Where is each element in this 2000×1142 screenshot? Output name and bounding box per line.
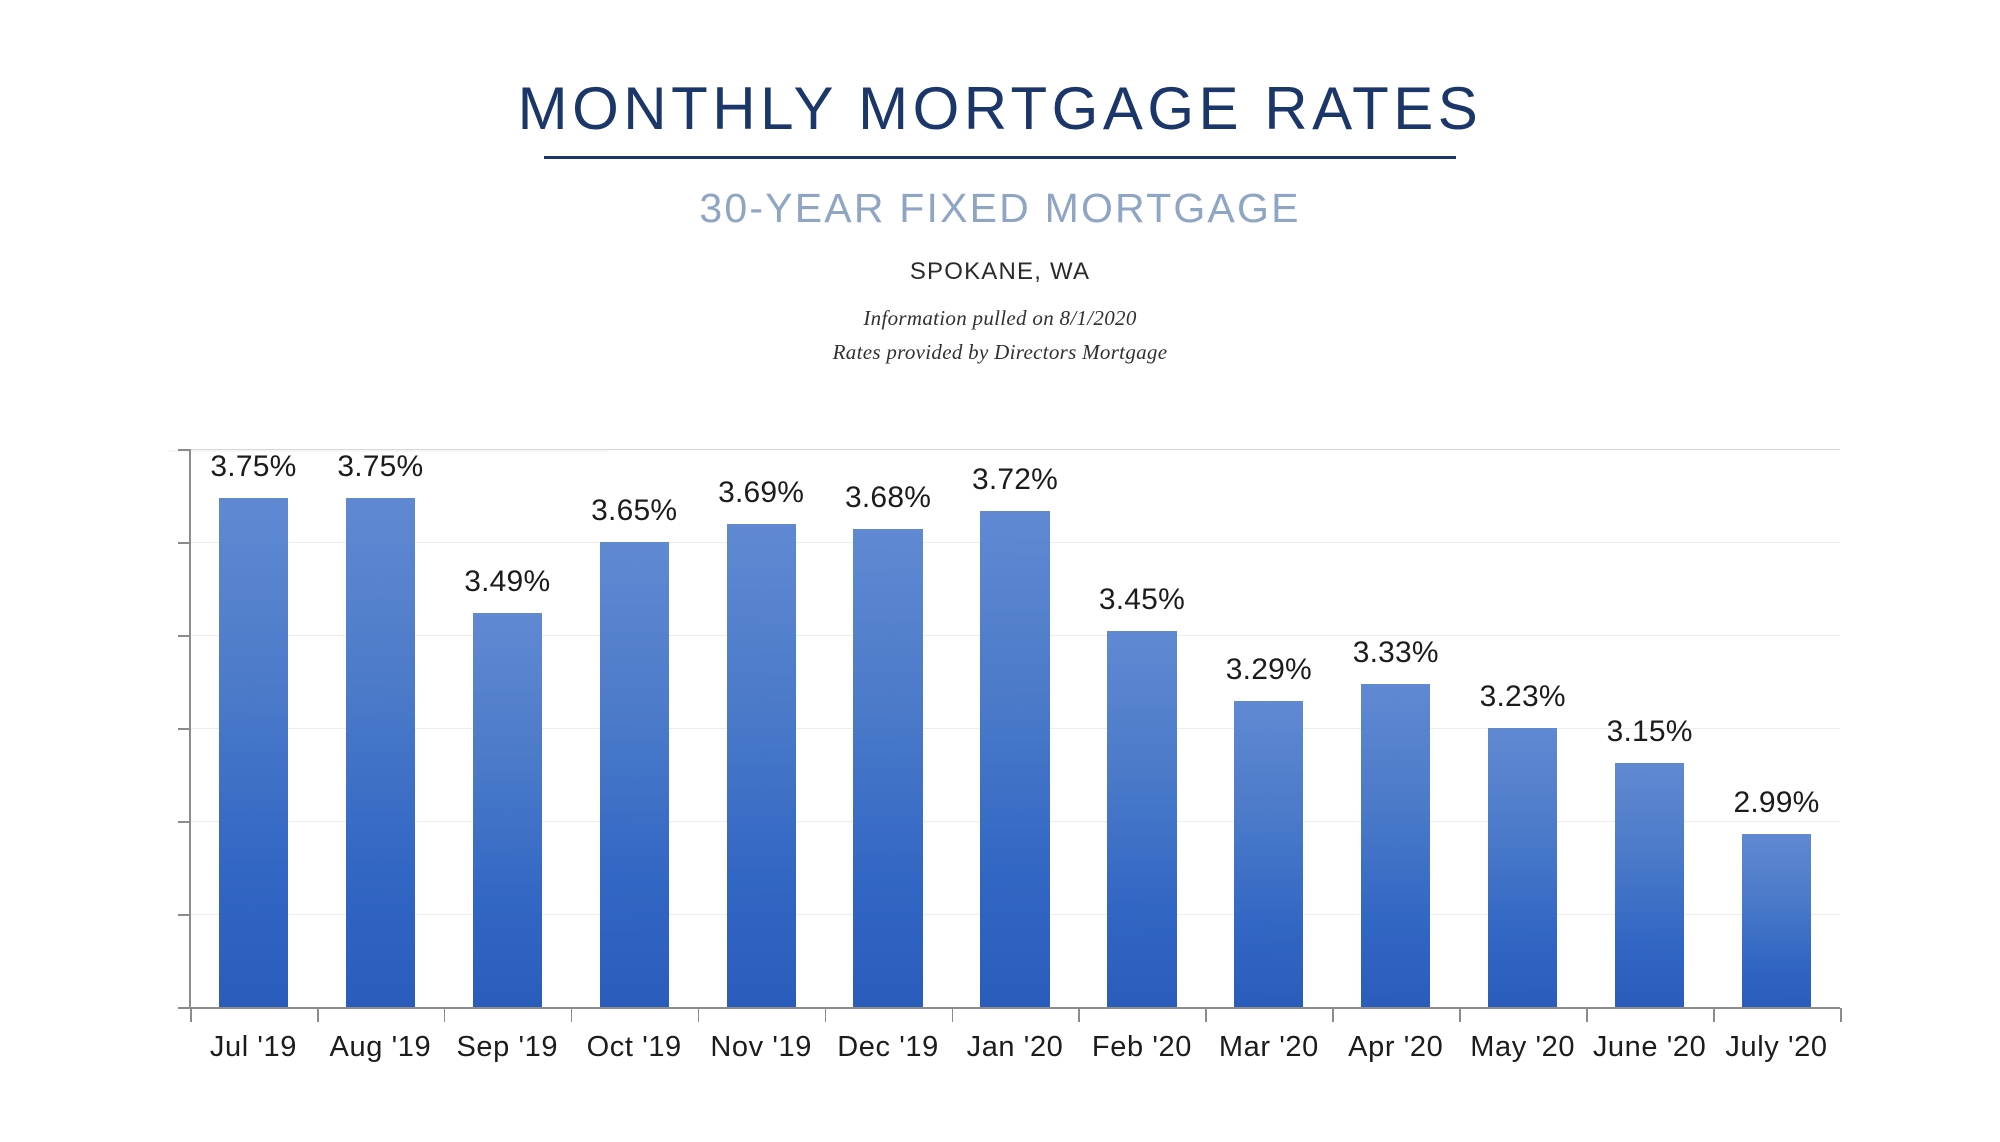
x-axis-tick: [571, 1008, 573, 1022]
bar[interactable]: [853, 529, 922, 1007]
x-axis-tick: [952, 1008, 954, 1022]
bar-slot: [980, 449, 1049, 1007]
y-axis-tick: [178, 449, 190, 451]
category-label: May '20: [1433, 1031, 1613, 1064]
bar-value-label: 3.49%: [427, 565, 587, 599]
chart-plot-area: [190, 449, 1840, 1007]
bar[interactable]: [727, 524, 796, 1007]
bar[interactable]: [1488, 728, 1557, 1007]
category-label: Jul '19: [163, 1031, 343, 1064]
bar-slot: [1742, 449, 1811, 1007]
bar[interactable]: [1361, 684, 1430, 1007]
y-axis-tick: [178, 542, 190, 544]
bar-slot: [473, 449, 542, 1007]
bar-value-label: 3.29%: [1189, 653, 1349, 687]
bar[interactable]: [1107, 631, 1176, 1007]
bar-slot: [1107, 449, 1176, 1007]
bar-value-label: 3.15%: [1570, 715, 1730, 749]
x-axis-tick: [1840, 1008, 1842, 1022]
gridline: [190, 1007, 1840, 1008]
page-title: MONTHLY MORTGAGE RATES: [0, 78, 2000, 140]
x-axis-tick: [1078, 1008, 1080, 1022]
category-label: Oct '19: [544, 1031, 724, 1064]
title-underline-rule: [544, 156, 1456, 159]
x-axis-tick: [317, 1008, 319, 1022]
gridline: [190, 821, 1840, 822]
bar-slot: [600, 449, 669, 1007]
plot-top-border: [190, 449, 1840, 450]
bar-value-label: 3.33%: [1316, 636, 1476, 670]
bar-value-label: 3.65%: [554, 494, 714, 528]
bar-slot: [1615, 449, 1684, 1007]
category-label: Feb '20: [1052, 1031, 1232, 1064]
bar-value-label: 3.72%: [935, 463, 1095, 497]
y-axis-tick: [178, 821, 190, 823]
category-label: Jan '20: [925, 1031, 1105, 1064]
bar-slot: [727, 449, 796, 1007]
bar-slot: [1488, 449, 1557, 1007]
x-axis-line: [189, 1007, 1840, 1009]
faint-line-artifact: [168, 450, 608, 452]
bar-series: [190, 449, 1840, 1007]
note-date-pulled: Information pulled on 8/1/2020: [0, 306, 2000, 331]
bar[interactable]: [1234, 701, 1303, 1007]
bar-slot: [346, 449, 415, 1007]
bar-value-label: 3.75%: [300, 450, 460, 484]
y-axis-tick: [178, 635, 190, 637]
bar-value-label: 3.68%: [808, 481, 968, 515]
bar[interactable]: [473, 613, 542, 1007]
bar[interactable]: [1742, 834, 1811, 1007]
bar-slot: [219, 449, 288, 1007]
x-axis-tick: [1332, 1008, 1334, 1022]
bar-value-label: 3.23%: [1443, 680, 1603, 714]
bar[interactable]: [980, 511, 1049, 1007]
x-axis-tick: [1586, 1008, 1588, 1022]
x-axis-tick: [190, 1008, 192, 1022]
y-axis-tick: [178, 728, 190, 730]
bar[interactable]: [600, 542, 669, 1007]
bar-value-label: 3.75%: [173, 450, 333, 484]
x-axis-tick: [698, 1008, 700, 1022]
category-label: Aug '19: [290, 1031, 470, 1064]
bar-slot: [1234, 449, 1303, 1007]
gridline: [190, 542, 1840, 543]
gridline: [190, 914, 1840, 915]
bar-value-label: 3.45%: [1062, 583, 1222, 617]
category-label: Nov '19: [671, 1031, 851, 1064]
y-axis-line: [189, 449, 191, 1009]
x-axis-tick: [1713, 1008, 1715, 1022]
y-axis-tick: [178, 1007, 190, 1009]
chart-header: MONTHLY MORTGAGE RATES 30-YEAR FIXED MOR…: [0, 0, 2000, 365]
category-label: Sep '19: [417, 1031, 597, 1064]
category-label: Apr '20: [1306, 1031, 1486, 1064]
bar[interactable]: [219, 498, 288, 1007]
category-label: June '20: [1560, 1031, 1740, 1064]
note-rate-source: Rates provided by Directors Mortgage: [0, 340, 2000, 365]
bar-value-label: 2.99%: [1697, 786, 1857, 820]
x-axis-tick: [444, 1008, 446, 1022]
location-label: SPOKANE, WA: [0, 258, 2000, 286]
gridline: [190, 635, 1840, 636]
category-label: Dec '19: [798, 1031, 978, 1064]
category-label: July '20: [1687, 1031, 1867, 1064]
y-axis-tick: [178, 914, 190, 916]
bar-slot: [1361, 449, 1430, 1007]
chart-subtitle: 30-YEAR FIXED MORTGAGE: [0, 185, 2000, 232]
category-label: Mar '20: [1179, 1031, 1359, 1064]
bar-slot: [853, 449, 922, 1007]
bar[interactable]: [1615, 763, 1684, 1007]
x-axis-tick: [825, 1008, 827, 1022]
gridline: [190, 728, 1840, 729]
bar-value-label: 3.69%: [681, 476, 841, 510]
x-axis-tick: [1205, 1008, 1207, 1022]
bar[interactable]: [346, 498, 415, 1007]
x-axis-tick: [1459, 1008, 1461, 1022]
